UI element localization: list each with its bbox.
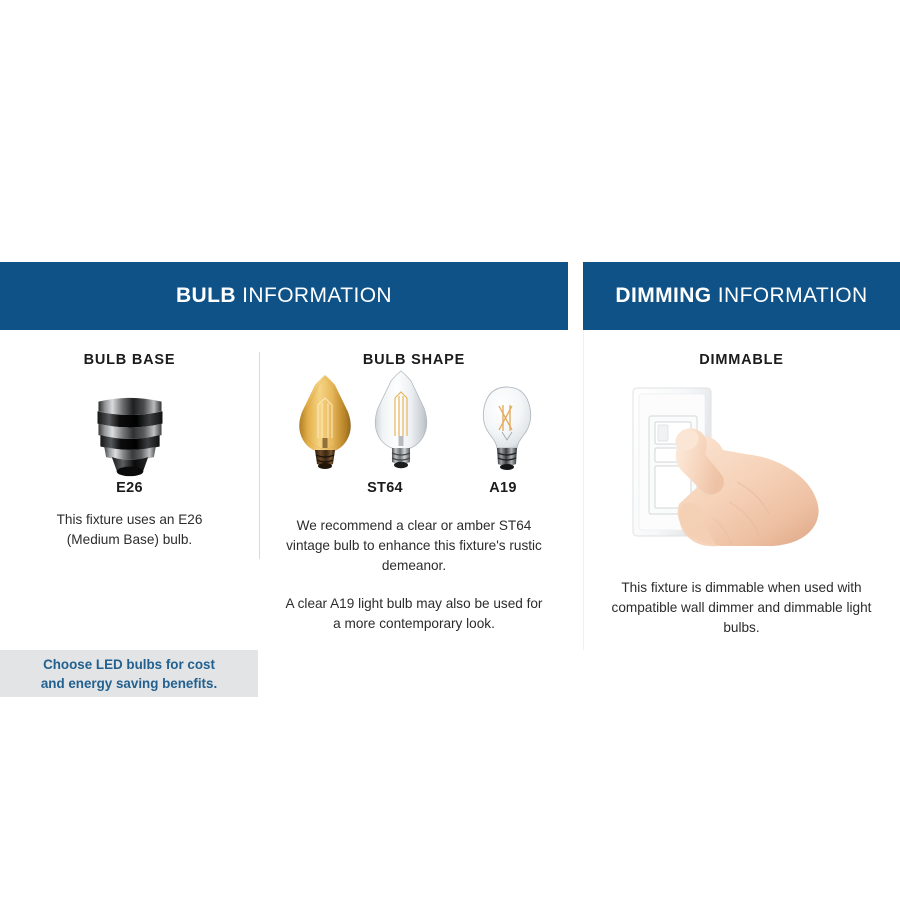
bulb-base-caption: E26 <box>0 480 259 496</box>
bulb-shape-paragraph-2: A clear A19 light bulb may also be used … <box>260 594 568 634</box>
wall-dimmer-image <box>583 372 900 568</box>
dimming-header-light-text: INFORMATION <box>712 284 868 308</box>
bulb-label-a19: A19 <box>456 480 550 496</box>
bulb-shape-image-row <box>260 368 568 480</box>
dimmable-title: DIMMABLE <box>583 330 900 368</box>
bulb-information-panel: BULB INFORMATION BULB BASE <box>0 262 568 630</box>
bulb-base-title: BULB BASE <box>0 330 259 368</box>
bulb-and-dimming-information-page: BULB INFORMATION BULB BASE <box>0 0 900 900</box>
led-callout-line-1: Choose LED bulbs for cost <box>43 655 215 674</box>
led-bulb-callout-banner: Choose LED bulbs for cost and energy sav… <box>0 650 258 697</box>
clear-st64-bulb-image <box>368 368 434 480</box>
dimming-panel-left-rule <box>583 330 584 650</box>
e26-base-image <box>0 368 259 480</box>
dimming-information-panel: DIMMING INFORMATION DIMMABLE <box>583 262 900 630</box>
bulb-shape-column: BULB SHAPE <box>260 330 568 634</box>
bulb-base-column: BULB BASE <box>0 330 259 550</box>
clear-a19-bulb-image <box>478 384 536 480</box>
dimming-information-body: DIMMABLE <box>583 330 900 630</box>
dimming-information-header: DIMMING INFORMATION <box>583 262 900 330</box>
bulb-header-light-text: INFORMATION <box>236 284 392 308</box>
dimming-header-strong-text: DIMMING <box>615 284 711 308</box>
bulb-shape-title: BULB SHAPE <box>260 330 568 368</box>
bulb-information-header: BULB INFORMATION <box>0 262 568 330</box>
bulb-shape-labels: ST64 A19 <box>260 480 568 502</box>
bulb-information-body: BULB BASE <box>0 330 568 630</box>
led-callout-line-2: and energy saving benefits. <box>41 674 217 693</box>
dimmable-description: This fixture is dimmable when used with … <box>583 578 900 638</box>
amber-st64-bulb-image <box>292 372 358 480</box>
bulb-header-strong-text: BULB <box>176 284 236 308</box>
e26-screw-base-icon <box>87 394 173 480</box>
bulb-base-description: This fixture uses an E26 (Medium Base) b… <box>0 510 259 550</box>
bulb-label-st64: ST64 <box>320 480 450 496</box>
hand-pressing-wall-dimmer-switch-icon <box>617 378 867 568</box>
bulb-shape-paragraph-1: We recommend a clear or amber ST64 vinta… <box>260 516 568 576</box>
dimmable-column: DIMMABLE <box>583 330 900 638</box>
